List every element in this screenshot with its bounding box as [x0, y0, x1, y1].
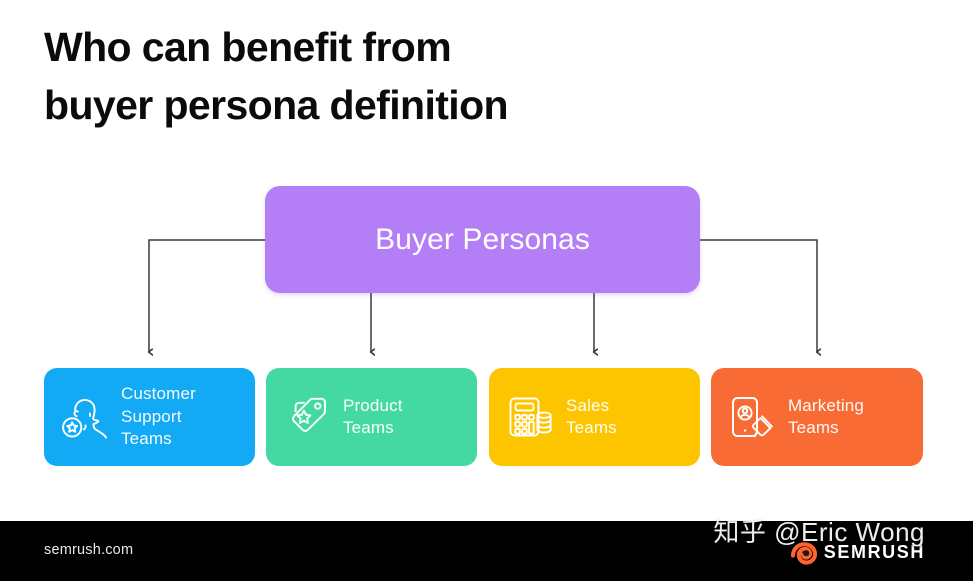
card-marketing-teams[interactable]: Marketing Teams [711, 368, 923, 466]
root-node-buyer-personas[interactable]: Buyer Personas [265, 186, 700, 293]
footer-url[interactable]: semrush.com [44, 542, 133, 558]
connector-to-card-0 [149, 240, 265, 352]
slide-canvas: Who can benefit from buyer persona defin… [0, 0, 973, 581]
card-customer-support-teams[interactable]: Customer Support Teams [44, 368, 255, 466]
buyer-persona-diagram: Buyer Personas Customer Support Teams [0, 0, 973, 516]
phone-megaphone-icon [727, 392, 777, 442]
card-sales-teams[interactable]: Sales Teams [489, 368, 700, 466]
card-label-customer-support-teams: Customer Support Teams [121, 383, 196, 451]
card-label-sales-teams: Sales Teams [566, 395, 617, 440]
card-label-product-teams: Product Teams [343, 395, 403, 440]
root-node-label: Buyer Personas [375, 223, 590, 257]
card-label-marketing-teams: Marketing Teams [788, 395, 864, 440]
connector-to-card-3 [700, 240, 817, 352]
price-tag-star-icon [282, 392, 332, 442]
zhihu-watermark: 知乎 @Eric Wong [713, 512, 925, 549]
calculator-coins-icon [505, 392, 555, 442]
customer-support-person-star-icon [60, 392, 110, 442]
card-product-teams[interactable]: Product Teams [266, 368, 477, 466]
